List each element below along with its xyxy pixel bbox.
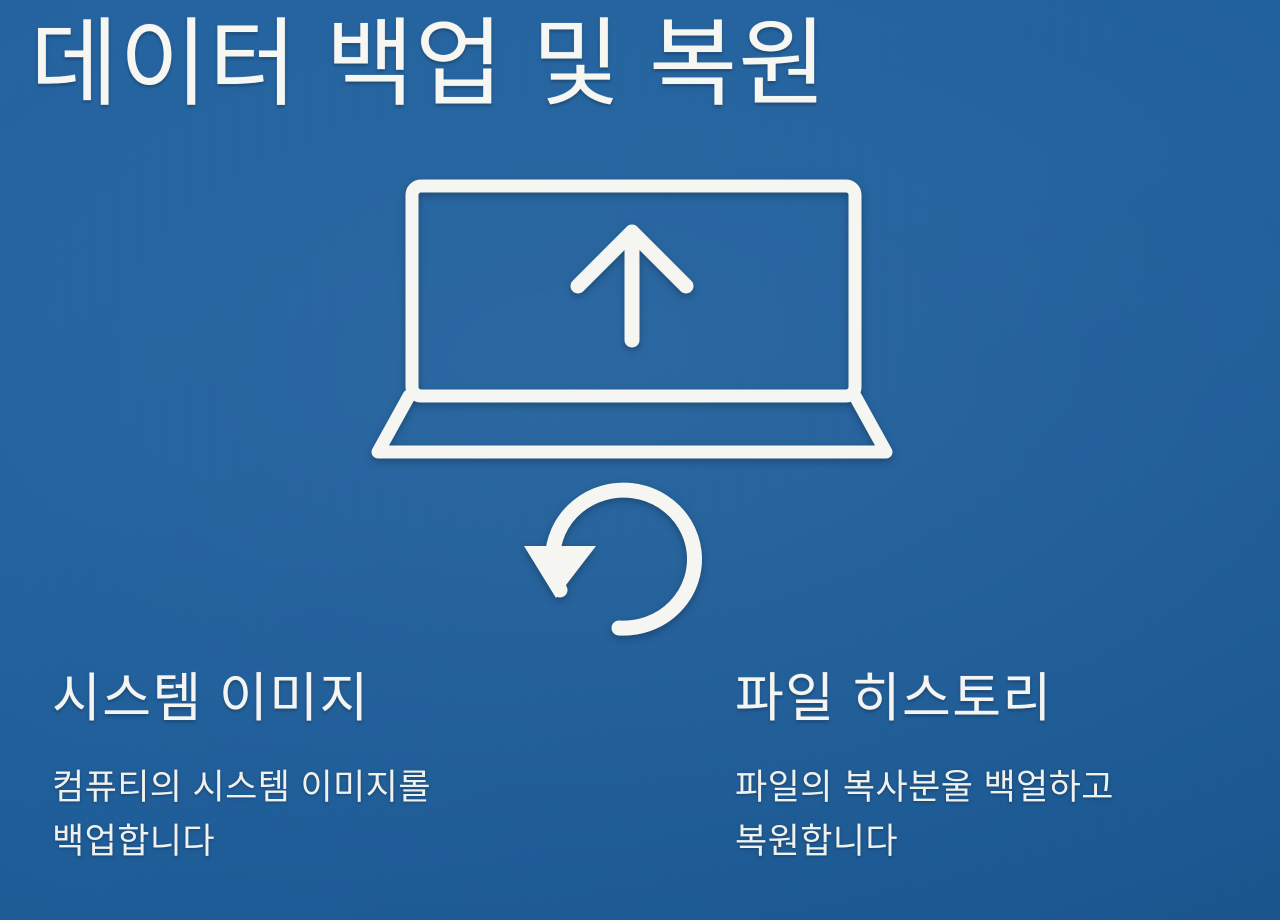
illustration-group — [0, 160, 1280, 660]
restore-circular-arrow-icon — [524, 490, 695, 628]
arrow-up-icon — [578, 232, 686, 340]
file-history-description-line-2: 복원합니다 — [735, 815, 1265, 869]
system-image-heading: 시스템 이미지 — [52, 668, 612, 730]
backup-restore-illustration — [0, 160, 1280, 660]
page-title: 데이터 백업 및 복원 — [30, 6, 1250, 124]
option-system-image[interactable]: 시스템 이미지 컴퓨티의 시스템 이미지롤 백업합니다 — [52, 668, 612, 869]
option-file-history[interactable]: 파일 히스토리 파일의 복사분울 백얼하고 복원합니다 — [735, 668, 1280, 869]
file-history-description-line-1: 파일의 복사분울 백얼하고 — [735, 761, 1265, 815]
file-history-description: 파일의 복사분울 백얼하고 복원합니다 — [735, 761, 1265, 869]
system-image-description-line-1: 컴퓨티의 시스템 이미지롤 — [52, 761, 582, 815]
options-columns: 시스템 이미지 컴퓨티의 시스템 이미지롤 백업합니다 파일 히스토리 파일의 … — [0, 668, 1280, 920]
file-history-heading: 파일 히스토리 — [735, 668, 1280, 730]
laptop-base-outline — [378, 396, 886, 452]
system-image-description-line-2: 백업합니다 — [52, 815, 582, 869]
backup-restore-screen: 데이터 백업 및 복원 시스템 이미지 컴퓨 — [0, 0, 1280, 920]
system-image-description: 컴퓨티의 시스템 이미지롤 백업합니다 — [52, 761, 582, 869]
restore-arrow-head — [524, 546, 596, 598]
